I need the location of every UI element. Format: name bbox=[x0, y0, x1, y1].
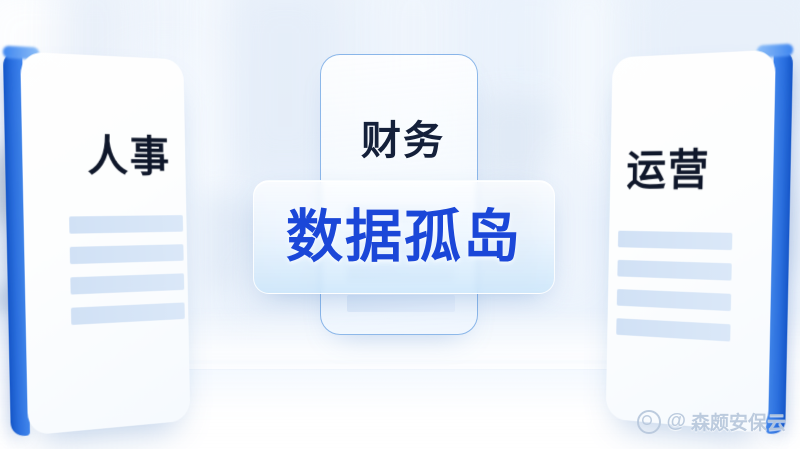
bg-desk bbox=[478, 96, 548, 184]
card-hr-label: 人事 bbox=[87, 136, 172, 180]
card-line bbox=[347, 295, 455, 312]
watermark: @ 森颇安保云 bbox=[637, 408, 786, 435]
card-line bbox=[70, 273, 184, 294]
scene-canvas: 人事 财务 运营 bbox=[0, 0, 800, 449]
baidu-paw-icon bbox=[637, 410, 661, 434]
watermark-at-symbol: @ bbox=[666, 410, 686, 433]
card-line bbox=[69, 215, 183, 234]
card-hr-face: 人事 bbox=[20, 52, 190, 436]
card-operations[interactable]: 运营 bbox=[606, 50, 776, 434]
card-line bbox=[617, 260, 731, 281]
watermark-text: 森颇安保云 bbox=[691, 408, 786, 435]
card-line bbox=[617, 289, 731, 311]
card-operations-label: 运营 bbox=[626, 150, 711, 193]
center-glass-badge: 数据孤岛 bbox=[253, 180, 555, 294]
center-badge-text: 数据孤岛 bbox=[286, 209, 522, 266]
card-line bbox=[71, 302, 185, 325]
card-line bbox=[70, 244, 184, 264]
card-operations-text-lines bbox=[616, 231, 732, 355]
card-line bbox=[616, 318, 730, 341]
card-hr-text-lines bbox=[69, 215, 185, 338]
card-operations-face: 运营 bbox=[606, 50, 776, 434]
card-hr[interactable]: 人事 bbox=[20, 52, 190, 436]
card-line bbox=[618, 231, 732, 250]
card-finance-label: 财务 bbox=[361, 121, 445, 161]
